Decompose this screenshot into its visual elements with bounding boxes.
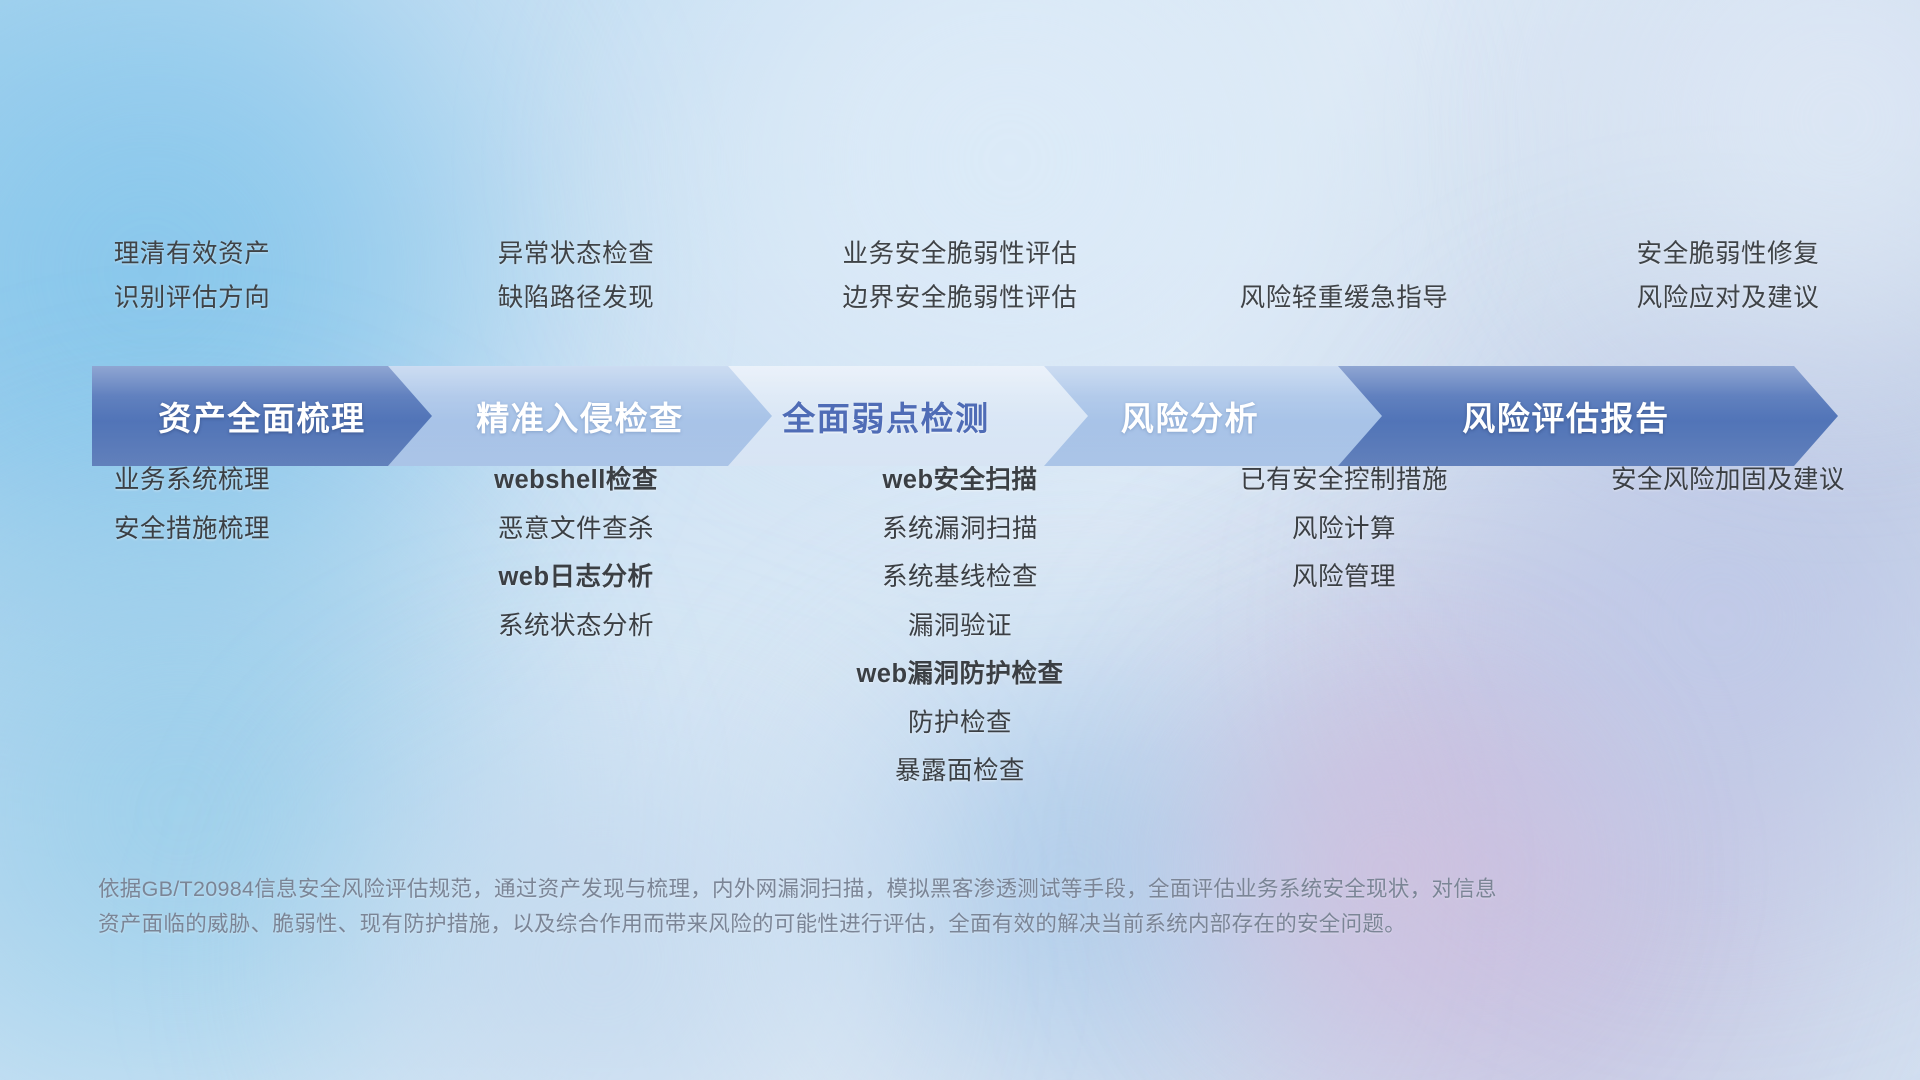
stage-label: 风险分析 xyxy=(1121,392,1259,440)
stage-activity-item: 系统漏洞扫描 xyxy=(882,505,1038,554)
stage-label: 全面弱点检测 xyxy=(782,392,990,440)
stage-outputs-2: 异常状态检查 缺陷路径发现 xyxy=(384,232,768,320)
stage-label: 精准入侵检查 xyxy=(476,392,684,440)
stage-activity-item: web漏洞防护检查 xyxy=(856,650,1063,699)
footer-line-2: 资产面临的威胁、脆弱性、现有防护措施，以及综合作用而带来风险的可能性进行评估，全… xyxy=(98,907,1718,942)
stage-output-item: 异常状态检查 xyxy=(498,232,655,276)
stage-activity-item: 风险管理 xyxy=(1292,553,1396,602)
stage-output-item: 安全脆弱性修复 xyxy=(1637,232,1820,276)
stage-activities-5: 安全风险加固及建议 xyxy=(1536,456,1920,796)
process-diagram: 理清有效资产 识别评估方向 异常状态检查 缺陷路径发现 业务安全脆弱性评估 边界… xyxy=(0,0,1920,1080)
stage-activity-item: 恶意文件查杀 xyxy=(498,505,654,554)
stage-activity-item: 系统状态分析 xyxy=(498,602,654,651)
stage-activities-1: 业务系统梳理 安全措施梳理 xyxy=(0,456,384,796)
stage-chevron-2[interactable]: 精准入侵检查 xyxy=(388,366,772,466)
stage-activity-item: 防护检查 xyxy=(908,699,1012,748)
stage-activity-label: web日志分析 xyxy=(498,563,653,591)
stage-activity-label: web安全扫描 xyxy=(882,466,1037,494)
stage-outputs-1: 理清有效资产 识别评估方向 xyxy=(0,232,384,320)
stage-activity-item: 暴露面检查 xyxy=(895,747,1025,796)
stage-chevron-1[interactable]: 资产全面梳理 xyxy=(92,366,432,466)
stage-activity-item: 系统基线检查 xyxy=(882,553,1038,602)
stage-label: 风险评估报告 xyxy=(1462,392,1670,440)
stage-output-item: 业务安全脆弱性评估 xyxy=(843,232,1078,276)
stage-activity-label: web漏洞防护检查 xyxy=(856,660,1063,688)
stage-activities-4: 已有安全控制措施 风险计算 风险管理 xyxy=(1152,456,1536,796)
stage-activity-item: web日志分析 xyxy=(498,553,653,602)
stage-output-item: 风险应对及建议 xyxy=(1637,276,1820,320)
stage-output-item: 理清有效资产 xyxy=(114,232,271,276)
footer-line-1: 依据GB/T20984信息安全风险评估规范，通过资产发现与梳理，内外网漏洞扫描，… xyxy=(98,872,1718,907)
stage-activity-item: 风险计算 xyxy=(1292,505,1396,554)
stage-activities-2: webshell检查 恶意文件查杀 web日志分析 系统状态分析 xyxy=(384,456,768,796)
stage-output-item: 边界安全脆弱性评估 xyxy=(843,276,1078,320)
stage-output-item: 识别评估方向 xyxy=(114,276,271,320)
stage-output-item: 缺陷路径发现 xyxy=(498,276,655,320)
stage-activity-item: 安全措施梳理 xyxy=(114,505,270,554)
stage-outputs-3: 业务安全脆弱性评估 边界安全脆弱性评估 xyxy=(768,232,1152,320)
stage-outputs-4: 风险轻重缓急指导 xyxy=(1152,232,1536,320)
stage-activities-row: 业务系统梳理 安全措施梳理 webshell检查 恶意文件查杀 web日志分析 … xyxy=(0,456,1920,796)
stage-label: 资产全面梳理 xyxy=(158,392,366,440)
stage-activities-3: web安全扫描 系统漏洞扫描 系统基线检查 漏洞验证 web漏洞防护检查 防护检… xyxy=(768,456,1152,796)
stage-outputs-row: 理清有效资产 识别评估方向 异常状态检查 缺陷路径发现 业务安全脆弱性评估 边界… xyxy=(0,232,1920,320)
footer-description: 依据GB/T20984信息安全风险评估规范，通过资产发现与梳理，内外网漏洞扫描，… xyxy=(98,872,1718,942)
stage-chevron-band: 资产全面梳理 精准入侵检查 全面弱点检测 风险分析 风险评估报告 xyxy=(92,366,1838,466)
stage-activity-item: 漏洞验证 xyxy=(908,602,1012,651)
stage-output-item: 风险轻重缓急指导 xyxy=(1240,276,1449,320)
stage-activity-label: webshell检查 xyxy=(494,466,658,494)
stage-outputs-5: 安全脆弱性修复 风险应对及建议 xyxy=(1536,232,1920,320)
